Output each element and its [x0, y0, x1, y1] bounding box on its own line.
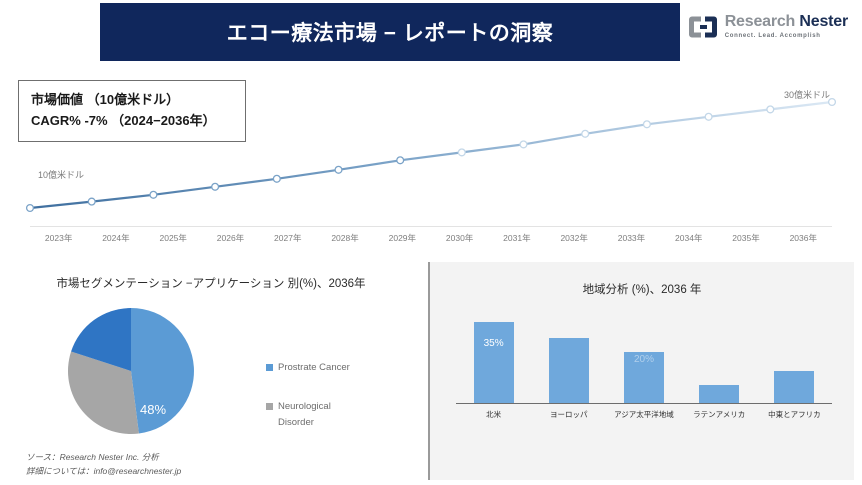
line-chart-x-tick: 2031年 — [488, 232, 545, 244]
research-nester-logo-icon — [688, 15, 718, 39]
line-data-point — [458, 149, 465, 156]
bar-category-label: ラテンアメリカ — [689, 409, 749, 420]
line-data-point — [520, 141, 527, 148]
line-data-point — [27, 205, 34, 212]
bar-rect[interactable]: 20% — [624, 352, 664, 404]
line-data-point — [705, 113, 712, 120]
brand-logo: Research Nester Connect. Lead. Accomplis… — [688, 14, 848, 39]
source-line-1: ソース：Research Nester Inc. 分析 — [26, 450, 181, 464]
line-chart-x-tick: 2033年 — [603, 232, 660, 244]
bar-value-label: 35% — [474, 338, 514, 349]
regional-bar-chart: 35%20% 北米ヨーロッパアジア太平洋地域ラテンアメリカ中東とアフリカ — [456, 310, 832, 422]
line-data-point — [644, 121, 651, 128]
regional-analysis-title: 地域分析 (%)、2036 年 — [477, 262, 807, 299]
market-value-label: 市場価値 （10億米ドル） — [31, 89, 235, 110]
line-chart-x-tick: 2025年 — [145, 232, 202, 244]
regional-bars: 35%20% — [456, 310, 832, 404]
header-banner: エコー療法市場 − レポートの洞察 — [100, 3, 680, 61]
line-chart-x-tick: 2034年 — [660, 232, 717, 244]
logo-tagline: Connect. Lead. Accomplish — [725, 33, 848, 39]
line-chart-x-tick: 2032年 — [546, 232, 603, 244]
line-data-point — [582, 130, 589, 137]
pie-legend-label: Prostrate Cancer — [278, 360, 350, 377]
line-data-point — [88, 198, 95, 205]
line-chart-x-tick: 2036年 — [775, 232, 832, 244]
line-chart-x-tick: 2026年 — [202, 232, 259, 244]
pie-legend-label: Neurological Disorder — [278, 399, 352, 432]
bar-category-label: ヨーロッパ — [539, 409, 599, 420]
bar-column — [546, 310, 592, 404]
bar-category-label: アジア太平洋地域 — [614, 409, 674, 420]
pie-legend: Prostrate CancerNeurological Disorder — [266, 360, 352, 454]
logo-name-nester: Nester — [799, 13, 848, 30]
segmentation-pie-chart — [66, 306, 196, 436]
bar-column — [696, 310, 742, 404]
line-data-point — [767, 106, 774, 113]
line-chart-x-tick: 2024年 — [87, 232, 144, 244]
line-chart-end-value-note: 30億米ドル — [784, 88, 830, 101]
line-chart-x-tick: 2023年 — [30, 232, 87, 244]
bar-rect[interactable] — [549, 338, 589, 404]
logo-name-research: Research — [725, 13, 795, 30]
page-title: エコー療法市場 − レポートの洞察 — [227, 17, 553, 47]
line-chart-x-tick-labels: 2023年2024年2025年2026年2027年2028年2029年2030年… — [30, 232, 832, 244]
bar-rect[interactable] — [699, 385, 739, 404]
line-chart-x-tick: 2029年 — [374, 232, 431, 244]
line-chart-x-tick: 2027年 — [259, 232, 316, 244]
bar-value-label: 20% — [624, 354, 664, 365]
source-line-2: 詳細については：info@researchnester.jp — [26, 464, 181, 478]
market-value-callout: 市場価値 （10億米ドル） CAGR% -7% （2024−2036年） — [18, 80, 246, 142]
regional-analysis-panel: 地域分析 (%)、2036 年 35%20% 北米ヨーロッパアジア太平洋地域ラテ… — [428, 262, 854, 480]
line-chart-x-tick: 2028年 — [316, 232, 373, 244]
bar-rect[interactable] — [774, 371, 814, 404]
source-note: ソース：Research Nester Inc. 分析 詳細については：info… — [26, 450, 181, 478]
line-data-point — [335, 166, 342, 173]
bar-column: 20% — [621, 310, 667, 404]
line-data-point — [150, 191, 157, 198]
cagr-label: CAGR% -7% （2024−2036年） — [31, 110, 235, 131]
segmentation-pie-area: 48% Prostrate CancerNeurological Disorde… — [8, 306, 414, 436]
bar-category-label: 中東とアフリカ — [764, 409, 824, 420]
regional-bar-tick-labels: 北米ヨーロッパアジア太平洋地域ラテンアメリカ中東とアフリカ — [456, 409, 832, 420]
pie-legend-item[interactable]: Neurological Disorder — [266, 399, 352, 432]
line-chart-x-tick: 2035年 — [717, 232, 774, 244]
line-chart-x-tick: 2030年 — [431, 232, 488, 244]
line-data-point — [397, 157, 404, 164]
segmentation-panel: 市場セグメンテーション −アプリケーション 別(%)、2036年 48% Pro… — [8, 262, 414, 480]
legend-swatch-icon — [266, 364, 273, 371]
bar-column: 35% — [471, 310, 517, 404]
line-data-point — [273, 175, 280, 182]
pie-slice-value-label: 48% — [140, 402, 166, 417]
regional-bar-axis — [456, 403, 832, 405]
bar-column — [771, 310, 817, 404]
line-chart-x-axis — [30, 226, 832, 227]
segmentation-title: 市場セグメンテーション −アプリケーション 別(%)、2036年 — [46, 262, 376, 293]
line-data-point — [212, 183, 219, 190]
bar-rect[interactable]: 35% — [474, 322, 514, 404]
legend-swatch-icon — [266, 403, 273, 410]
line-chart-start-value-note: 10億米ドル — [38, 168, 84, 181]
pie-legend-item[interactable]: Prostrate Cancer — [266, 360, 352, 377]
bar-category-label: 北米 — [464, 409, 524, 420]
